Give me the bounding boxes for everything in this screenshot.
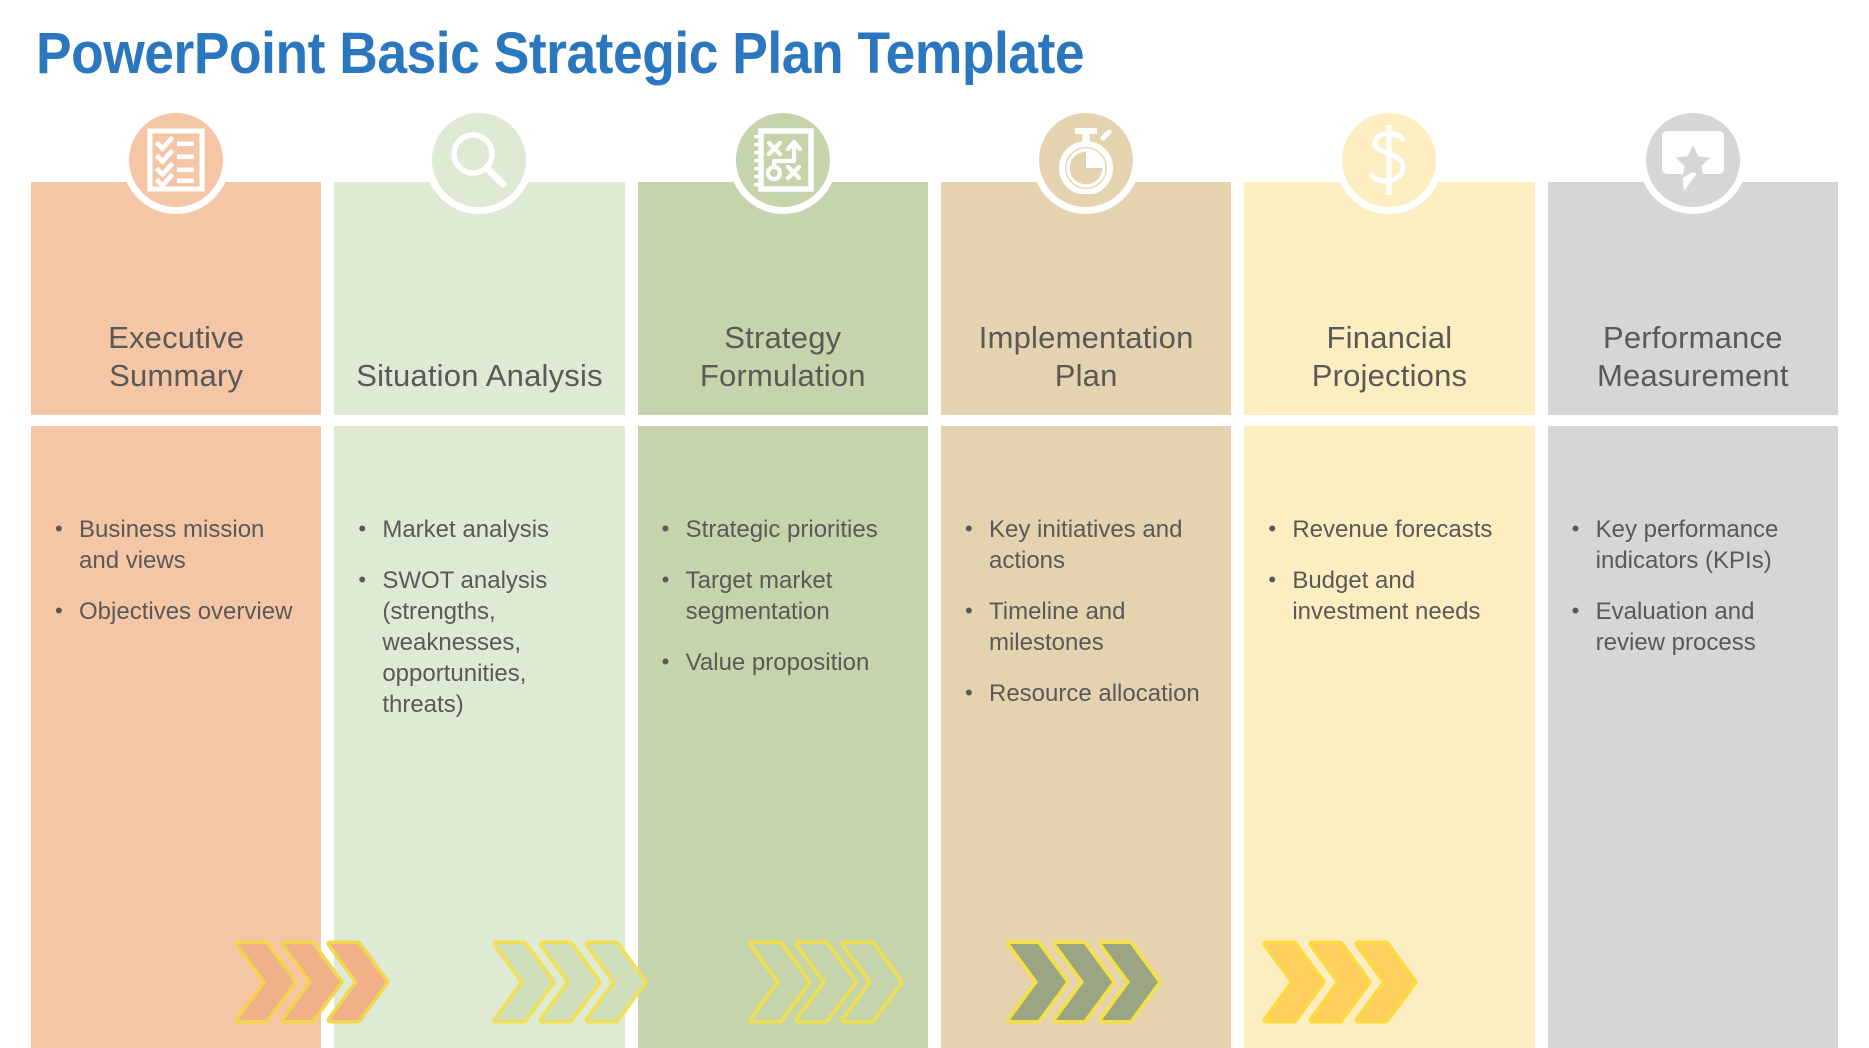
playbook-icon	[752, 128, 814, 192]
column-title-financial-projections: Financial Projections	[1244, 319, 1534, 395]
bullet-item: Key initiatives and actions	[957, 514, 1215, 576]
playbook-icon	[729, 106, 837, 214]
bullet-list-executive-summary: Business mission and viewsObjectives ove…	[47, 514, 305, 627]
column-header-executive-summary: Executive Summary	[31, 182, 321, 415]
stopwatch-icon	[1032, 106, 1140, 214]
column-title-executive-summary: Executive Summary	[31, 319, 321, 395]
bullet-item: Budget and investment needs	[1260, 565, 1518, 627]
column-executive-summary[interactable]: Executive SummaryBusiness mission and vi…	[31, 182, 321, 1048]
column-financial-projections[interactable]: Financial ProjectionsRevenue forecastsBu…	[1244, 182, 1534, 1048]
column-header-strategy-formulation: Strategy Formulation	[638, 182, 928, 415]
column-divider	[638, 415, 928, 426]
slide-canvas: PowerPoint Basic Strategic Plan Template…	[0, 0, 1869, 1048]
star-bubble-icon	[1660, 129, 1726, 191]
magnifier-icon	[425, 106, 533, 214]
column-body-situation-analysis: Market analysisSWOT analysis (strengths,…	[334, 426, 624, 1048]
bullet-list-performance-measurement: Key performance indicators (KPIs)Evaluat…	[1564, 514, 1822, 658]
column-header-situation-analysis: Situation Analysis	[334, 182, 624, 415]
bullet-list-implementation-plan: Key initiatives and actionsTimeline and …	[957, 514, 1215, 709]
bullet-item: Resource allocation	[957, 678, 1215, 709]
column-title-implementation-plan: Implementation Plan	[941, 319, 1231, 395]
checklist-icon	[146, 128, 206, 192]
bullet-item: Objectives overview	[47, 596, 305, 627]
column-body-performance-measurement: Key performance indicators (KPIs)Evaluat…	[1548, 426, 1838, 1048]
column-strategy-formulation[interactable]: Strategy FormulationStrategic priorities…	[638, 182, 928, 1048]
bullet-item: Revenue forecasts	[1260, 514, 1518, 545]
bullet-list-financial-projections: Revenue forecastsBudget and investment n…	[1260, 514, 1518, 627]
star-bubble-icon	[1639, 106, 1747, 214]
strategic-plan-columns: Executive SummaryBusiness mission and vi…	[31, 182, 1838, 1048]
column-divider	[941, 415, 1231, 426]
column-divider	[1244, 415, 1534, 426]
bullet-item: Key performance indicators (KPIs)	[1564, 514, 1822, 576]
dollar-icon	[1335, 106, 1443, 214]
bullet-item: Value proposition	[654, 647, 912, 678]
bullet-item: Target market segmentation	[654, 565, 912, 627]
column-body-strategy-formulation: Strategic prioritiesTarget market segmen…	[638, 426, 928, 1048]
bullet-item: Strategic priorities	[654, 514, 912, 545]
column-title-situation-analysis: Situation Analysis	[350, 357, 609, 395]
bullet-item: Evaluation and review process	[1564, 596, 1822, 658]
column-header-implementation-plan: Implementation Plan	[941, 182, 1231, 415]
magnifier-icon	[448, 129, 510, 191]
column-divider	[334, 415, 624, 426]
bullet-list-situation-analysis: Market analysisSWOT analysis (strengths,…	[350, 514, 608, 720]
bullet-item: Market analysis	[350, 514, 608, 545]
checklist-icon	[122, 106, 230, 214]
dollar-icon	[1365, 123, 1413, 197]
column-divider	[31, 415, 321, 426]
column-title-strategy-formulation: Strategy Formulation	[638, 319, 928, 395]
column-header-performance-measurement: Performance Measurement	[1548, 182, 1838, 415]
column-title-performance-measurement: Performance Measurement	[1548, 319, 1838, 395]
page-title: PowerPoint Basic Strategic Plan Template	[36, 18, 1416, 90]
column-situation-analysis[interactable]: Situation AnalysisMarket analysisSWOT an…	[334, 182, 624, 1048]
column-header-financial-projections: Financial Projections	[1244, 182, 1534, 415]
bullet-item: Timeline and milestones	[957, 596, 1215, 658]
bullet-item: Business mission and views	[47, 514, 305, 576]
column-body-executive-summary: Business mission and viewsObjectives ove…	[31, 426, 321, 1048]
column-performance-measurement[interactable]: Performance MeasurementKey performance i…	[1548, 182, 1838, 1048]
bullet-item: SWOT analysis (strengths, weaknesses, op…	[350, 565, 608, 720]
column-implementation-plan[interactable]: Implementation PlanKey initiatives and a…	[941, 182, 1231, 1048]
column-body-financial-projections: Revenue forecastsBudget and investment n…	[1244, 426, 1534, 1048]
column-body-implementation-plan: Key initiatives and actionsTimeline and …	[941, 426, 1231, 1048]
bullet-list-strategy-formulation: Strategic prioritiesTarget market segmen…	[654, 514, 912, 678]
stopwatch-icon	[1053, 126, 1119, 194]
column-divider	[1548, 415, 1838, 426]
